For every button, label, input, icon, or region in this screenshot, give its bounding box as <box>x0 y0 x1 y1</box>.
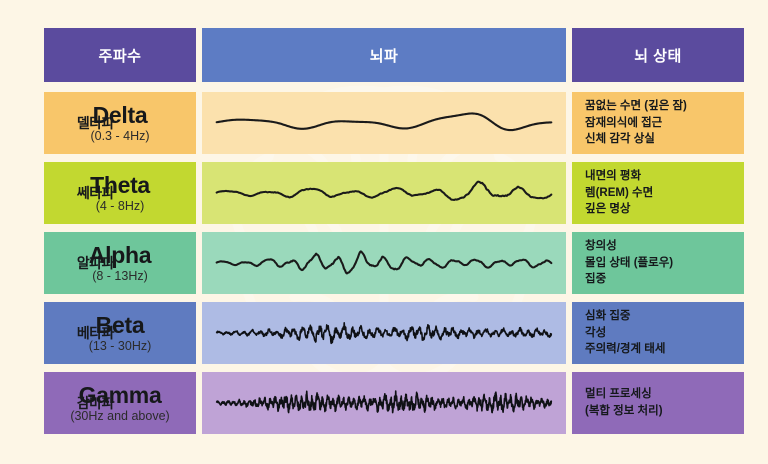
row-side-label: 베타파 <box>14 323 114 343</box>
header-label-brainwave: 뇌파 <box>370 45 399 66</box>
row-side-label: 알파파 <box>14 253 114 273</box>
row-cell-waveform <box>202 92 566 154</box>
row-side-label: 델타파 <box>14 113 114 133</box>
row-cell-brain-state: 멀티 프로세싱(복합 정보 처리) <box>572 372 744 434</box>
table-header-row: 주파수 뇌파 뇌 상태 <box>44 28 744 82</box>
row-side-label: 감마파 <box>14 393 114 413</box>
brain-state-line: 잠재의식에 접근 <box>585 115 744 132</box>
row-cell-brain-state: 창의성몰입 상태 (플로우)집중 <box>572 232 744 294</box>
brain-state-line: 꿈없는 수면 (깊은 잠) <box>585 98 744 115</box>
brain-state-line: 창의성 <box>585 238 744 255</box>
table-row: Gamma(30Hz and above)멀티 프로세싱(복합 정보 처리) <box>44 372 744 434</box>
waveform-beta-icon <box>202 302 566 364</box>
row-cell-waveform <box>202 162 566 224</box>
row-cell-waveform <box>202 232 566 294</box>
waveform-alpha-icon <box>202 232 566 294</box>
brain-state-line: 심화 집중 <box>585 308 744 325</box>
table-row: Delta(0.3 - 4Hz)꿈없는 수면 (깊은 잠)잠재의식에 접근신체 … <box>44 92 744 154</box>
header-label-brain-state: 뇌 상태 <box>634 45 682 66</box>
table-row: Theta(4 - 8Hz)내면의 평화렘(REM) 수면깊은 명상 <box>44 162 744 224</box>
brain-state-line: 주의력/경계 태세 <box>585 341 744 358</box>
row-cell-brain-state: 꿈없는 수면 (깊은 잠)잠재의식에 접근신체 감각 상실 <box>572 92 744 154</box>
table-body: Delta(0.3 - 4Hz)꿈없는 수면 (깊은 잠)잠재의식에 접근신체 … <box>44 92 744 434</box>
table-row: Beta(13 - 30Hz)심화 집중각성주의력/경계 태세 <box>44 302 744 364</box>
brain-state-line: 집중 <box>585 271 744 288</box>
brain-state-line: 렘(REM) 수면 <box>585 185 744 202</box>
row-cell-brain-state: 내면의 평화렘(REM) 수면깊은 명상 <box>572 162 744 224</box>
header-cell-brainwave: 뇌파 <box>202 28 566 82</box>
brain-state-line: 각성 <box>585 325 744 342</box>
row-cell-brain-state: 심화 집중각성주의력/경계 태세 <box>572 302 744 364</box>
brain-state-line: (복합 정보 처리) <box>585 403 744 420</box>
header-label-frequency: 주파수 <box>99 45 142 66</box>
table-row: Alpha(8 - 13Hz)창의성몰입 상태 (플로우)집중 <box>44 232 744 294</box>
brain-state-line: 멀티 프로세싱 <box>585 386 744 403</box>
brain-state-line: 몰입 상태 (플로우) <box>585 255 744 272</box>
brainwave-table: 주파수 뇌파 뇌 상태 Delta(0.3 - 4Hz)꿈없는 수면 (깊은 잠… <box>44 28 744 442</box>
brain-state-line: 깊은 명상 <box>585 201 744 218</box>
waveform-gamma-icon <box>202 372 566 434</box>
row-cell-waveform <box>202 302 566 364</box>
row-cell-waveform <box>202 372 566 434</box>
waveform-theta-icon <box>202 162 566 224</box>
brain-state-line: 내면의 평화 <box>585 168 744 185</box>
header-cell-brain-state: 뇌 상태 <box>572 28 744 82</box>
header-cell-frequency: 주파수 <box>44 28 196 82</box>
waveform-delta-icon <box>202 92 566 154</box>
brain-state-line: 신체 감각 상실 <box>585 131 744 148</box>
row-side-label: 쎄타파 <box>14 183 114 203</box>
